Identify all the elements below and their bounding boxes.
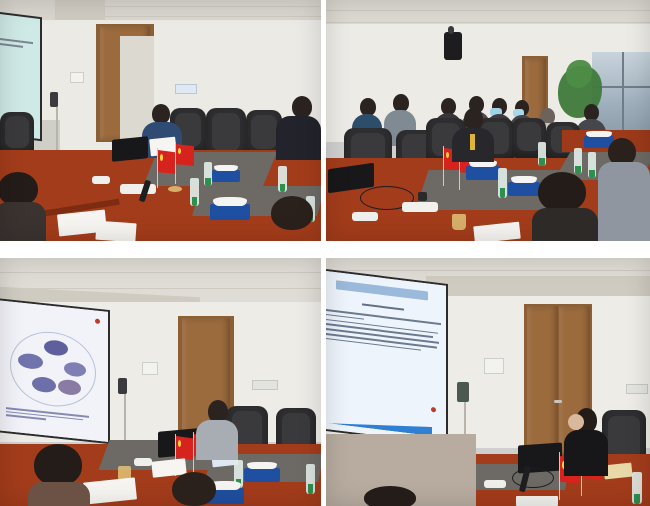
tissue-box	[466, 166, 500, 180]
head	[152, 104, 170, 124]
wall-sign	[252, 380, 278, 390]
person-foreground	[28, 444, 90, 506]
wall-sign	[626, 384, 648, 394]
flag-pole	[175, 142, 176, 184]
document	[516, 496, 558, 506]
ceiling-line	[326, 22, 650, 23]
head	[271, 196, 313, 230]
phone-on-stand	[50, 92, 58, 107]
slide-logo-icon	[95, 319, 100, 325]
door-handle	[554, 400, 562, 403]
water-bottle	[204, 162, 212, 186]
water-bottle	[498, 168, 507, 198]
soffit-band	[426, 276, 650, 298]
desk-flag	[158, 150, 176, 174]
torso	[564, 430, 608, 476]
remote-control	[120, 184, 156, 194]
projection-screen	[0, 298, 110, 444]
scene-bottom-right	[326, 258, 650, 506]
water-bottle	[538, 142, 546, 166]
head	[0, 172, 38, 206]
person-foreground	[598, 138, 650, 241]
head	[464, 108, 483, 130]
remote-control	[134, 458, 152, 466]
flag-pole	[443, 146, 444, 186]
wall-plate	[70, 72, 84, 83]
remote-control	[352, 212, 378, 221]
head	[538, 172, 586, 212]
flag-pole	[559, 452, 560, 500]
person-presenter	[564, 408, 608, 474]
water-bottle	[574, 148, 582, 174]
wall-plate	[142, 362, 158, 375]
scene-top-right	[326, 0, 650, 241]
water-bottle	[190, 178, 199, 206]
phone-on-stand	[457, 382, 469, 402]
scene-bottom-left	[0, 258, 321, 506]
tissue-box	[210, 204, 250, 220]
photo-bottom-right[interactable]	[326, 258, 650, 506]
phone-on-stand	[118, 378, 127, 394]
head	[292, 96, 312, 118]
ceiling-line	[326, 10, 650, 11]
ceiling-line	[90, 16, 321, 17]
ceiling-line	[0, 272, 321, 273]
wall-plate	[484, 358, 504, 374]
wall-sign	[175, 84, 197, 94]
door-left	[527, 306, 558, 452]
desk-flag	[176, 436, 193, 460]
laptop	[112, 136, 148, 162]
torso	[28, 482, 90, 506]
head	[34, 444, 82, 486]
remote-control	[92, 176, 110, 184]
face	[568, 414, 584, 430]
slide-text	[326, 270, 446, 443]
person-foreground	[532, 172, 598, 241]
photo-top-right[interactable]	[326, 0, 650, 241]
head	[364, 486, 416, 506]
cup	[168, 186, 182, 192]
flag-pole	[193, 432, 194, 474]
slide-accent-shape	[328, 414, 432, 436]
speaker-bracket	[448, 26, 454, 34]
remote-control	[484, 480, 506, 488]
torso	[532, 208, 598, 241]
slide-title-band	[336, 280, 428, 300]
cable	[512, 468, 554, 488]
slide-logo-icon	[431, 407, 436, 413]
person-foreground	[166, 472, 222, 506]
photo-grid	[0, 0, 650, 506]
cup	[452, 214, 466, 230]
scene-top-left	[0, 0, 321, 241]
flag-pole	[157, 148, 158, 188]
wall-speaker	[444, 32, 462, 60]
person-seated-right	[276, 96, 321, 160]
water-bottle	[306, 464, 315, 494]
remote-control	[402, 202, 438, 212]
torso	[196, 420, 238, 460]
screen-text	[0, 37, 34, 52]
water-bottle	[632, 472, 642, 504]
tissue-box	[212, 170, 240, 182]
projection-screen	[326, 268, 448, 446]
torso	[598, 162, 650, 241]
slide-caption	[6, 407, 96, 427]
person-foreground	[364, 486, 416, 506]
torso	[276, 116, 321, 160]
photo-bottom-left[interactable]	[0, 258, 321, 506]
desk-flag	[176, 144, 194, 166]
lanyard	[470, 134, 475, 150]
photo-top-left[interactable]	[0, 0, 321, 241]
window-mullion	[622, 52, 624, 138]
water-bottle	[278, 166, 287, 192]
person-speaker	[452, 108, 494, 160]
ceiling-line	[326, 270, 650, 271]
person-foreground	[265, 196, 321, 241]
connector	[418, 192, 427, 201]
person-foreground	[0, 172, 46, 241]
person-presenter	[196, 400, 238, 458]
slide-diagram	[0, 300, 108, 442]
head	[172, 472, 216, 506]
document	[95, 221, 136, 241]
tissue-box	[244, 468, 280, 482]
torso	[0, 202, 46, 241]
